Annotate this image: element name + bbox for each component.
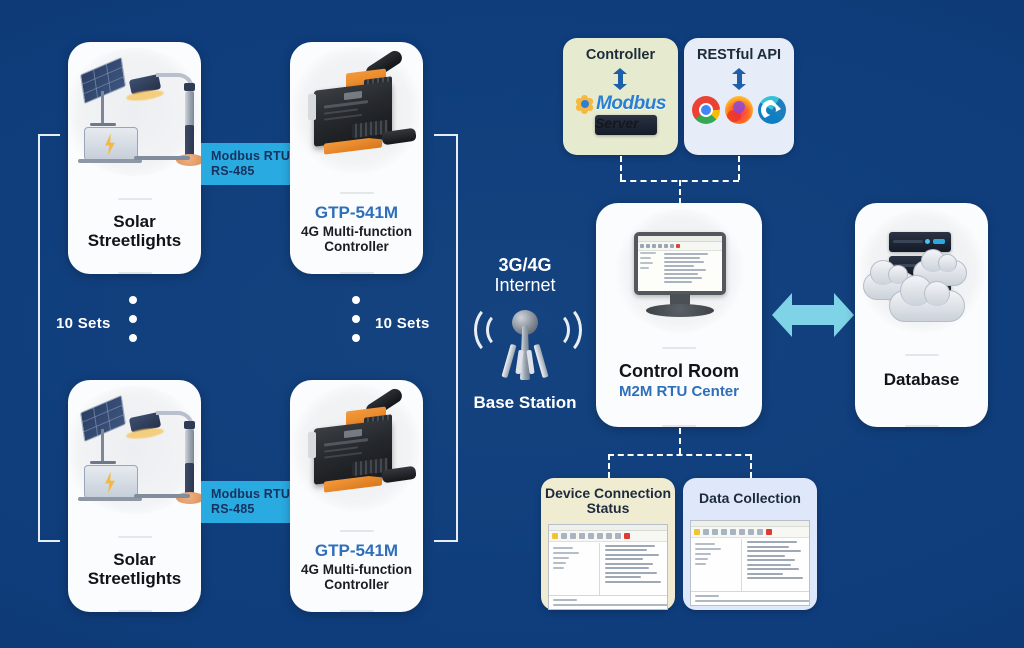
database-art (855, 203, 988, 354)
database-title: Database (884, 370, 960, 389)
card-caption: GTP-541M 4G Multi-function Controller (301, 203, 412, 254)
modbus-line2: RS-485 (211, 164, 290, 179)
box-restful-api[interactable]: RESTful API (684, 38, 794, 155)
data-collection-title-line1: Data Collection (699, 490, 801, 506)
card-divider (118, 198, 152, 200)
solar-title-line1: Solar (88, 212, 182, 231)
dash-to-data-collection (750, 454, 752, 478)
signal-wave-left-2 (474, 304, 516, 356)
solar-streetlight-art-bottom (68, 380, 201, 536)
gtp-device-art-bottom (290, 380, 423, 530)
diagram-canvas: Solar Streetlights Modbus RTU RS-485 (0, 0, 1024, 648)
modbus-line1: Modbus RTU (211, 149, 290, 164)
solar-title-line2: Streetlights (88, 569, 182, 588)
bidirectional-arrow-db (772, 293, 854, 337)
firefox-icon[interactable] (725, 96, 753, 124)
modbus-flower-icon (575, 95, 594, 114)
cloud-server-icon (857, 226, 987, 331)
desktop-monitor-icon (620, 228, 738, 324)
ellipsis-dots-left (129, 296, 137, 342)
card-divider (662, 347, 696, 349)
device-status-title-line2: Status (587, 500, 630, 516)
modbus-line1: Modbus RTU (211, 487, 290, 502)
card-control-room[interactable]: Control Room M2M RTU Center (596, 203, 762, 427)
gtp-541m-device-icon (290, 394, 423, 514)
card-caption: Database (884, 370, 960, 389)
dash-restful-down (738, 156, 740, 180)
ellipsis-dots-right (352, 296, 360, 342)
modbus-line2: RS-485 (211, 502, 290, 517)
solar-streetlight-art-top (68, 42, 201, 198)
app-screenshot-icon (690, 520, 810, 606)
card-solar-streetlights-bottom[interactable]: Solar Streetlights (68, 380, 201, 612)
gtp-desc-line2: Controller (301, 577, 412, 592)
card-caption: Solar Streetlights (88, 212, 182, 250)
server-label: Server (595, 115, 657, 135)
network-type-label: 3G/4G Internet (470, 255, 580, 295)
restful-api-box-title: RESTful API (697, 47, 781, 63)
device-status-title-line1: Device Connection (545, 485, 671, 501)
modbus-arrow-label-top: Modbus RTU RS-485 (201, 143, 294, 185)
card-caption: GTP-541M 4G Multi-function Controller (301, 541, 412, 592)
card-divider-bottom (340, 272, 374, 274)
gtp-desc-line1: 4G Multi-function (301, 562, 412, 577)
edge-icon[interactable] (758, 96, 786, 124)
battery-icon (84, 465, 138, 501)
card-divider-bottom (340, 610, 374, 612)
gtp-desc-line2: Controller (301, 239, 412, 254)
tcp-server-logo: TCP Server (604, 115, 637, 135)
modbus-arrow-label-bottom: Modbus RTU RS-485 (201, 481, 294, 523)
card-divider (340, 530, 374, 532)
solar-streetlight-icon (68, 393, 201, 518)
dash-controller-down (620, 156, 622, 180)
gtp-model-label: GTP-541M (301, 541, 412, 560)
card-caption: Control Room M2M RTU Center (619, 361, 739, 401)
card-gtp-541m-bottom[interactable]: GTP-541M 4G Multi-function Controller (290, 380, 423, 612)
chrome-icon[interactable] (692, 96, 720, 124)
lamp-pole-icon (185, 91, 194, 157)
card-solar-streetlights-top[interactable]: Solar Streetlights (68, 42, 201, 274)
dash-control-room-down (679, 428, 681, 454)
bracket-left (38, 134, 60, 542)
gtp-541m-device-icon (290, 56, 423, 176)
box-device-connection-status[interactable]: Device Connection Status (541, 478, 675, 610)
lamp-pole-icon (185, 429, 194, 495)
cloud-icon-3 (889, 290, 965, 322)
up-down-arrow-icon (613, 68, 628, 90)
card-divider-bottom (118, 610, 152, 612)
device-status-title: Device Connection Status (545, 486, 671, 517)
solar-title-line2: Streetlights (88, 231, 182, 250)
card-divider-bottom (662, 425, 696, 427)
card-database[interactable]: Database (855, 203, 988, 427)
dash-bottom-horizontal (608, 454, 751, 456)
box-data-collection[interactable]: Data Collection (683, 478, 817, 610)
solar-streetlight-icon (68, 55, 201, 180)
card-divider-bottom (905, 425, 939, 427)
controller-box-title: Controller (586, 47, 655, 63)
card-caption: Solar Streetlights (88, 550, 182, 588)
bracket-right (434, 134, 458, 542)
modbus-wordmark: Modbus (596, 93, 666, 115)
sets-label-right: 10 Sets (375, 315, 430, 332)
network-line1: 3G/4G (470, 255, 580, 275)
dash-to-control-room (679, 180, 681, 204)
base-station-label: Base Station (455, 393, 595, 412)
app-screenshot-icon (548, 524, 668, 610)
data-collection-title: Data Collection (699, 491, 801, 506)
gtp-desc-line1: 4G Multi-function (301, 224, 412, 239)
control-room-art (596, 203, 762, 347)
modbus-logo: Modbus (575, 93, 666, 115)
card-divider (340, 192, 374, 194)
battery-icon (84, 127, 138, 163)
dash-to-device-status (608, 454, 610, 478)
network-line2: Internet (470, 275, 580, 295)
control-room-subtitle: M2M RTU Center (619, 384, 739, 401)
card-divider-bottom (118, 272, 152, 274)
browser-icon-row (692, 96, 786, 124)
signal-wave-right-2 (540, 304, 582, 356)
solar-title-line1: Solar (88, 550, 182, 569)
box-controller-modbus[interactable]: Controller Modbus TCP Server (563, 38, 678, 155)
monitor-screen (634, 232, 726, 295)
server-rack-1 (889, 232, 951, 252)
card-divider (905, 354, 939, 356)
gtp-device-art-top (290, 42, 423, 192)
card-gtp-541m-top[interactable]: GTP-541M 4G Multi-function Controller (290, 42, 423, 274)
card-divider (118, 536, 152, 538)
up-down-arrow-icon (732, 68, 747, 90)
sets-label-left: 10 Sets (56, 315, 111, 332)
control-room-title: Control Room (619, 361, 739, 381)
arrow-head-left-icon (772, 293, 792, 337)
arrow-head-right-icon (834, 293, 854, 337)
gtp-model-label: GTP-541M (301, 203, 412, 222)
